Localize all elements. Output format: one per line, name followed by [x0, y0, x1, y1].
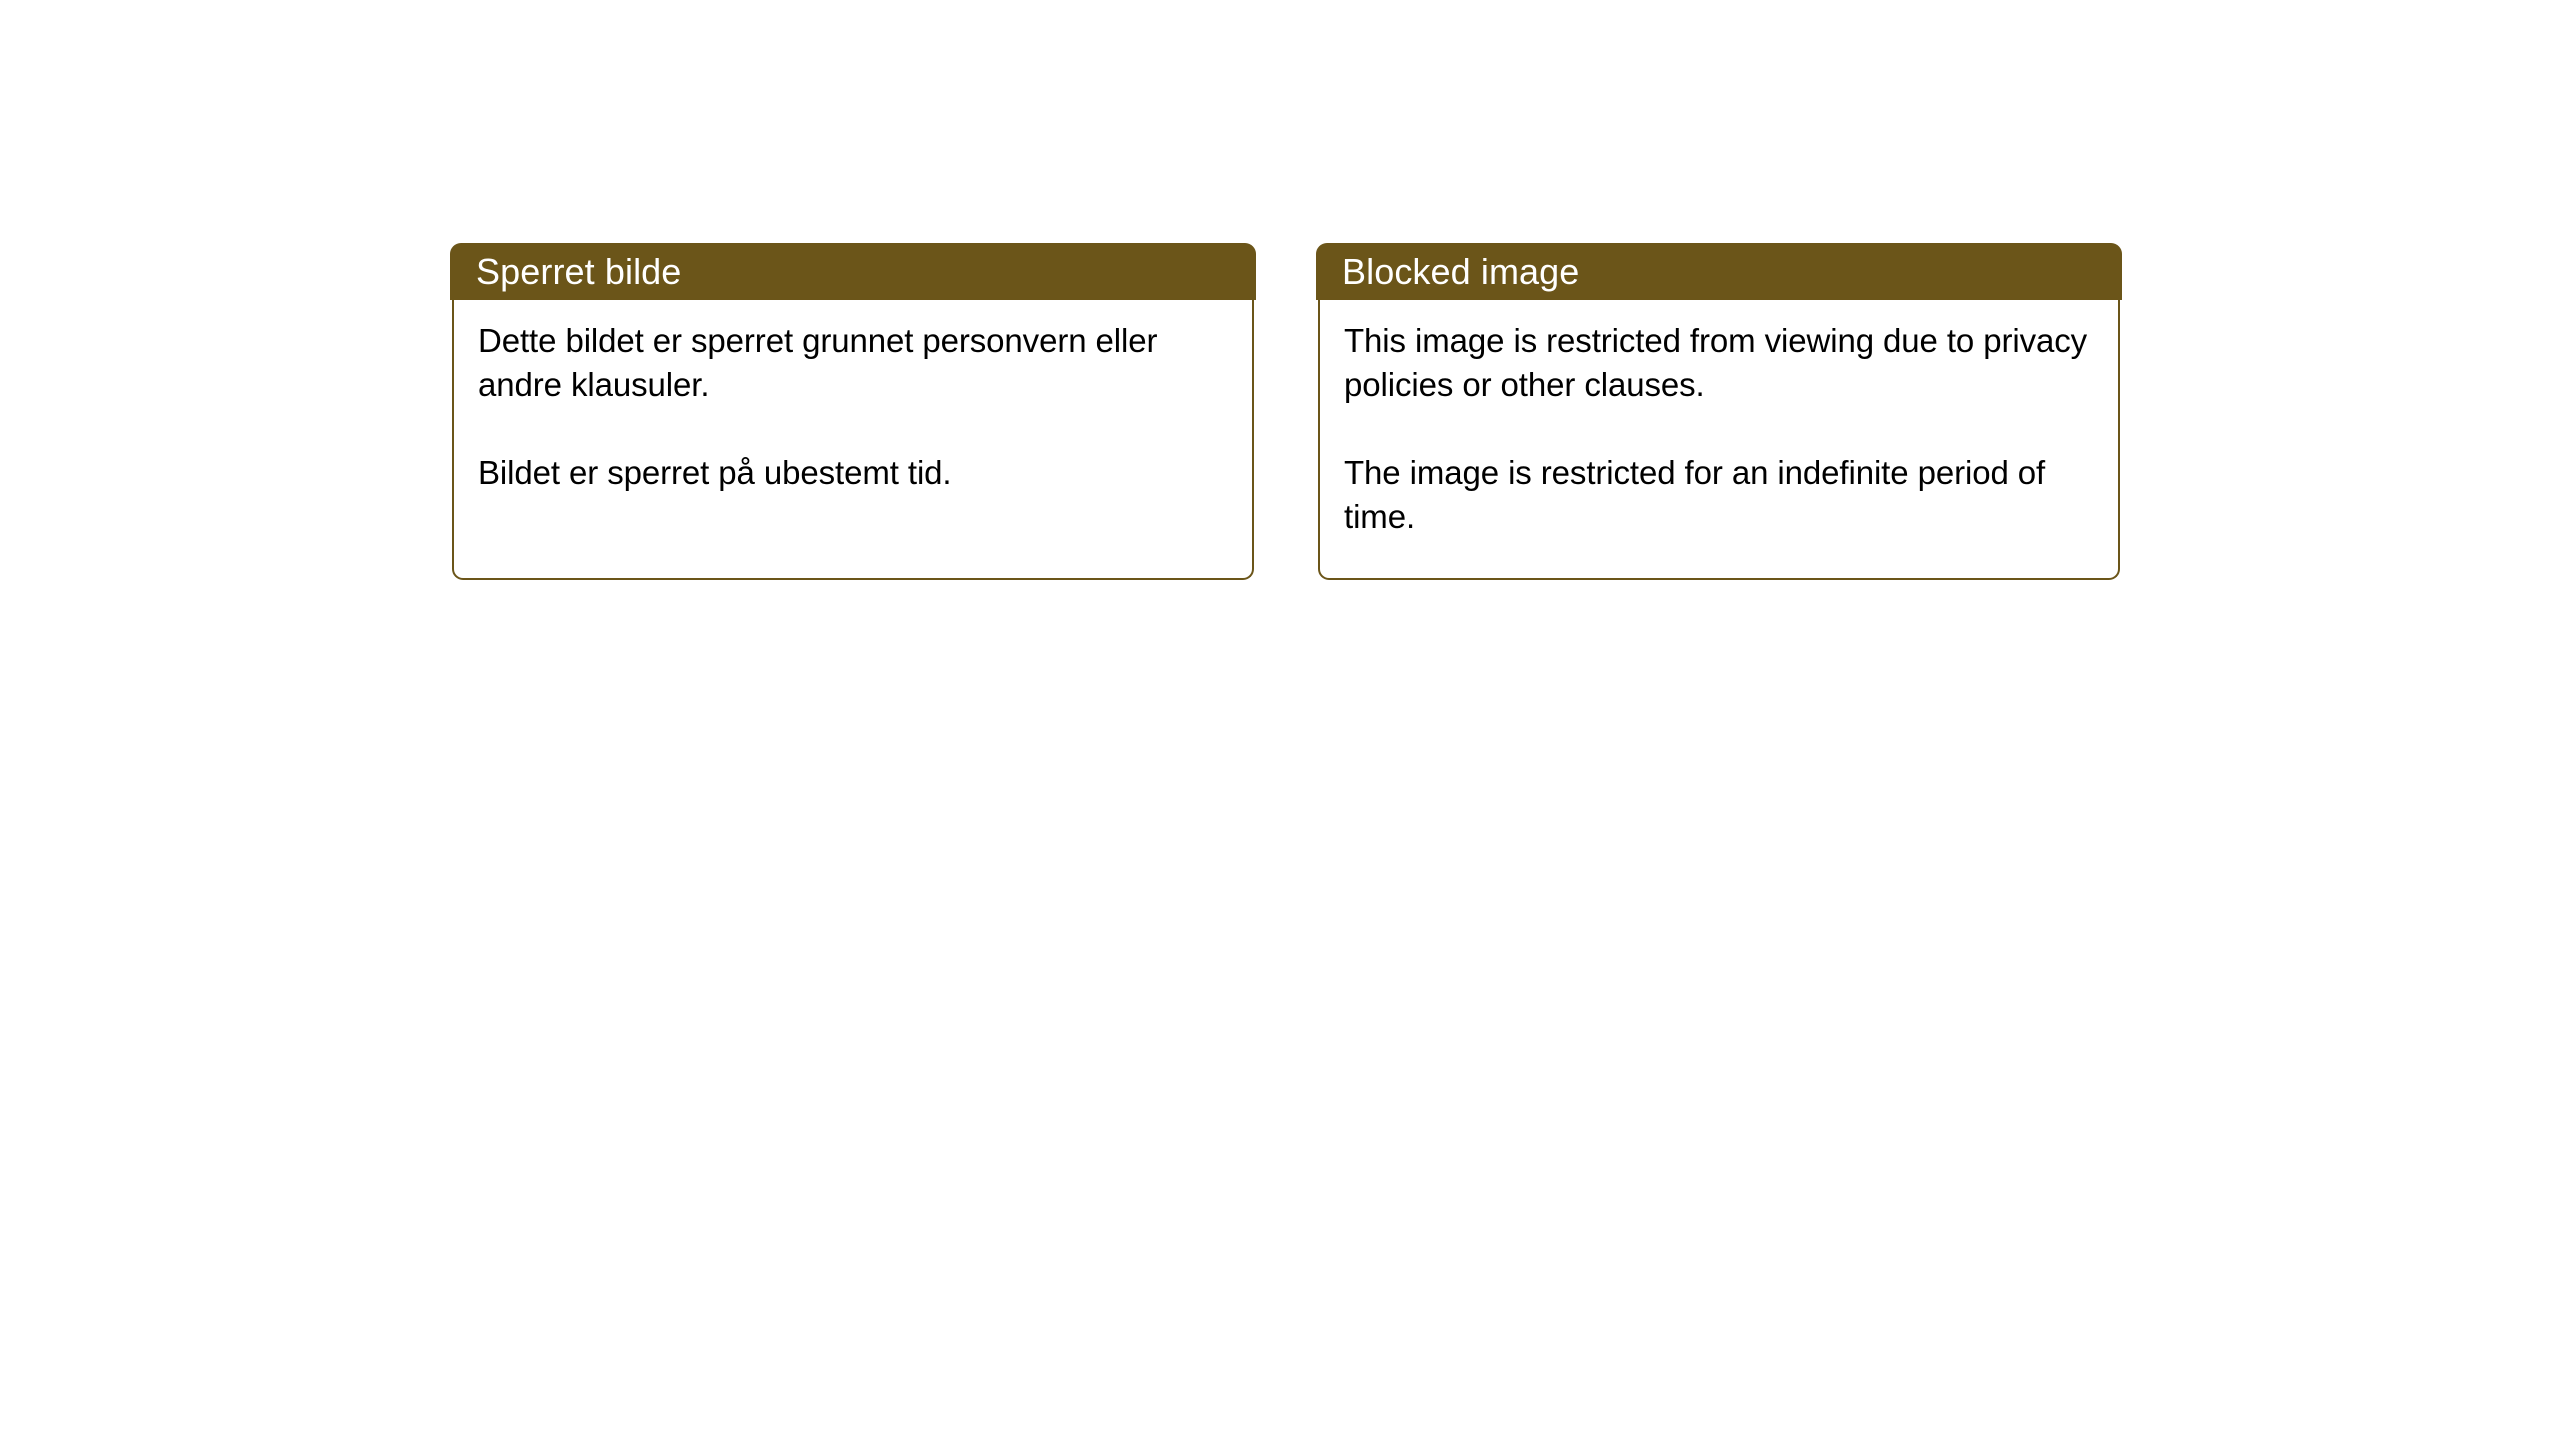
blocked-image-notice-card-english: Blocked image This image is restricted f…	[1316, 243, 2122, 580]
card-body-english: This image is restricted from viewing du…	[1318, 300, 2120, 580]
card-paragraph-duration-norwegian: Bildet er sperret på ubestemt tid.	[478, 451, 1226, 495]
card-paragraph-reason-english: This image is restricted from viewing du…	[1344, 319, 2092, 407]
card-title-norwegian: Sperret bilde	[450, 254, 681, 290]
card-title-english: Blocked image	[1316, 254, 1579, 290]
card-header-norwegian: Sperret bilde	[450, 243, 1256, 300]
page-canvas: Sperret bilde Dette bildet er sperret gr…	[0, 0, 2560, 1440]
blocked-image-notice-card-norwegian: Sperret bilde Dette bildet er sperret gr…	[450, 243, 1256, 580]
card-paragraph-reason-norwegian: Dette bildet er sperret grunnet personve…	[478, 319, 1226, 407]
card-header-english: Blocked image	[1316, 243, 2122, 300]
card-body-norwegian: Dette bildet er sperret grunnet personve…	[452, 300, 1254, 580]
card-paragraph-duration-english: The image is restricted for an indefinit…	[1344, 451, 2092, 539]
